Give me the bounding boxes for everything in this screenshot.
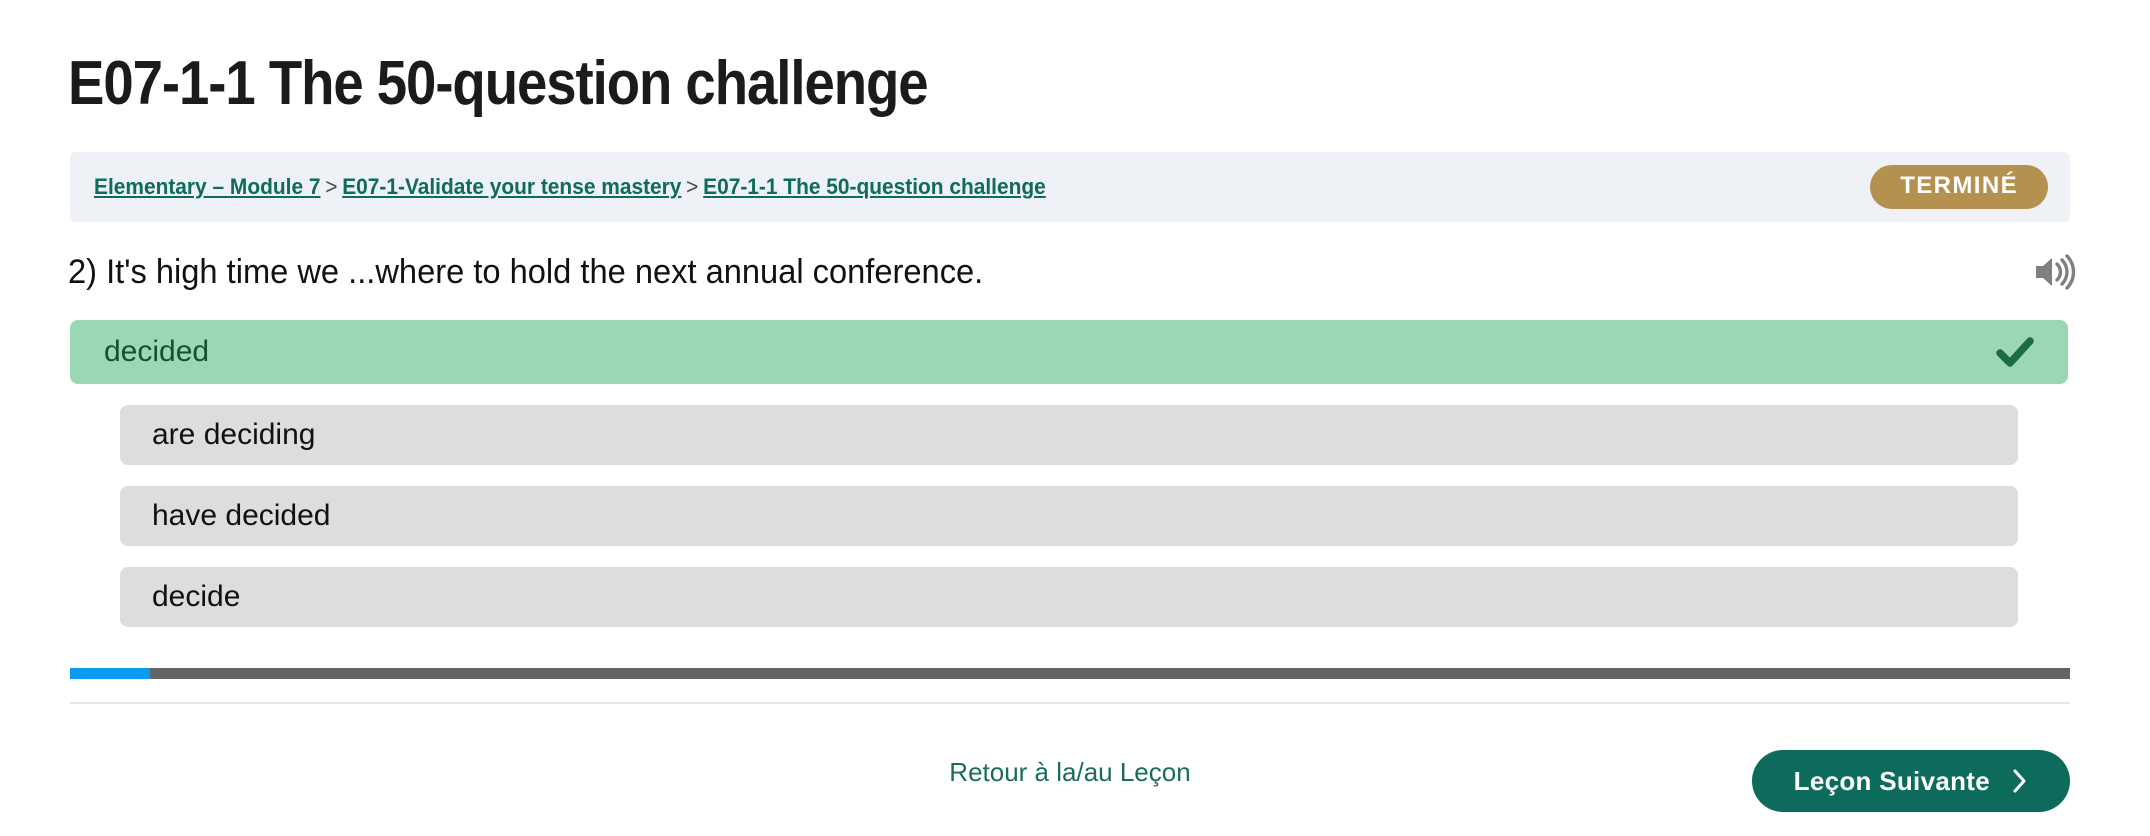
answer-option[interactable]: decide xyxy=(120,567,2018,627)
answer-option[interactable]: are deciding xyxy=(120,405,2018,465)
answer-label: have decided xyxy=(152,499,330,533)
answer-label: decided xyxy=(104,335,209,369)
question-row: 2) It's high time we ...where to hold th… xyxy=(68,248,2076,296)
breadcrumb-item-current[interactable]: E07-1-1 The 50-question challenge xyxy=(703,174,1046,199)
answer-label: decide xyxy=(152,580,240,614)
next-lesson-button[interactable]: Leçon Suivante xyxy=(1752,750,2070,812)
breadcrumb: Elementary – Module 7>E07-1-Validate you… xyxy=(94,174,1046,200)
chevron-right-icon xyxy=(2012,768,2028,794)
breadcrumb-item-topic[interactable]: E07-1-Validate your tense mastery xyxy=(342,174,681,199)
answer-label: are deciding xyxy=(152,418,315,452)
speaker-icon[interactable] xyxy=(2032,252,2076,292)
breadcrumb-item-module[interactable]: Elementary – Module 7 xyxy=(94,174,321,199)
status-badge: TERMINÉ xyxy=(1870,165,2048,209)
answer-list: decided are deciding have decided decide xyxy=(0,320,2150,627)
check-icon xyxy=(1994,331,2036,373)
breadcrumb-bar: Elementary – Module 7>E07-1-Validate you… xyxy=(70,152,2070,222)
footer-divider xyxy=(70,702,2070,704)
footer: Retour à la/au Leçon Leçon Suivante xyxy=(70,712,2070,822)
quiz-progress-bar xyxy=(70,668,2070,679)
breadcrumb-separator: > xyxy=(321,174,343,199)
lesson-quiz-page: E07-1-1 The 50-question challenge Elemen… xyxy=(0,0,2150,836)
quiz-progress-fill xyxy=(70,668,150,679)
question-text: 2) It's high time we ...where to hold th… xyxy=(68,251,983,293)
page-title: E07-1-1 The 50-question challenge xyxy=(68,48,928,120)
breadcrumb-separator: > xyxy=(681,174,703,199)
answer-option-selected[interactable]: decided xyxy=(70,320,2068,384)
answer-option[interactable]: have decided xyxy=(120,486,2018,546)
next-lesson-label: Leçon Suivante xyxy=(1794,766,1990,797)
